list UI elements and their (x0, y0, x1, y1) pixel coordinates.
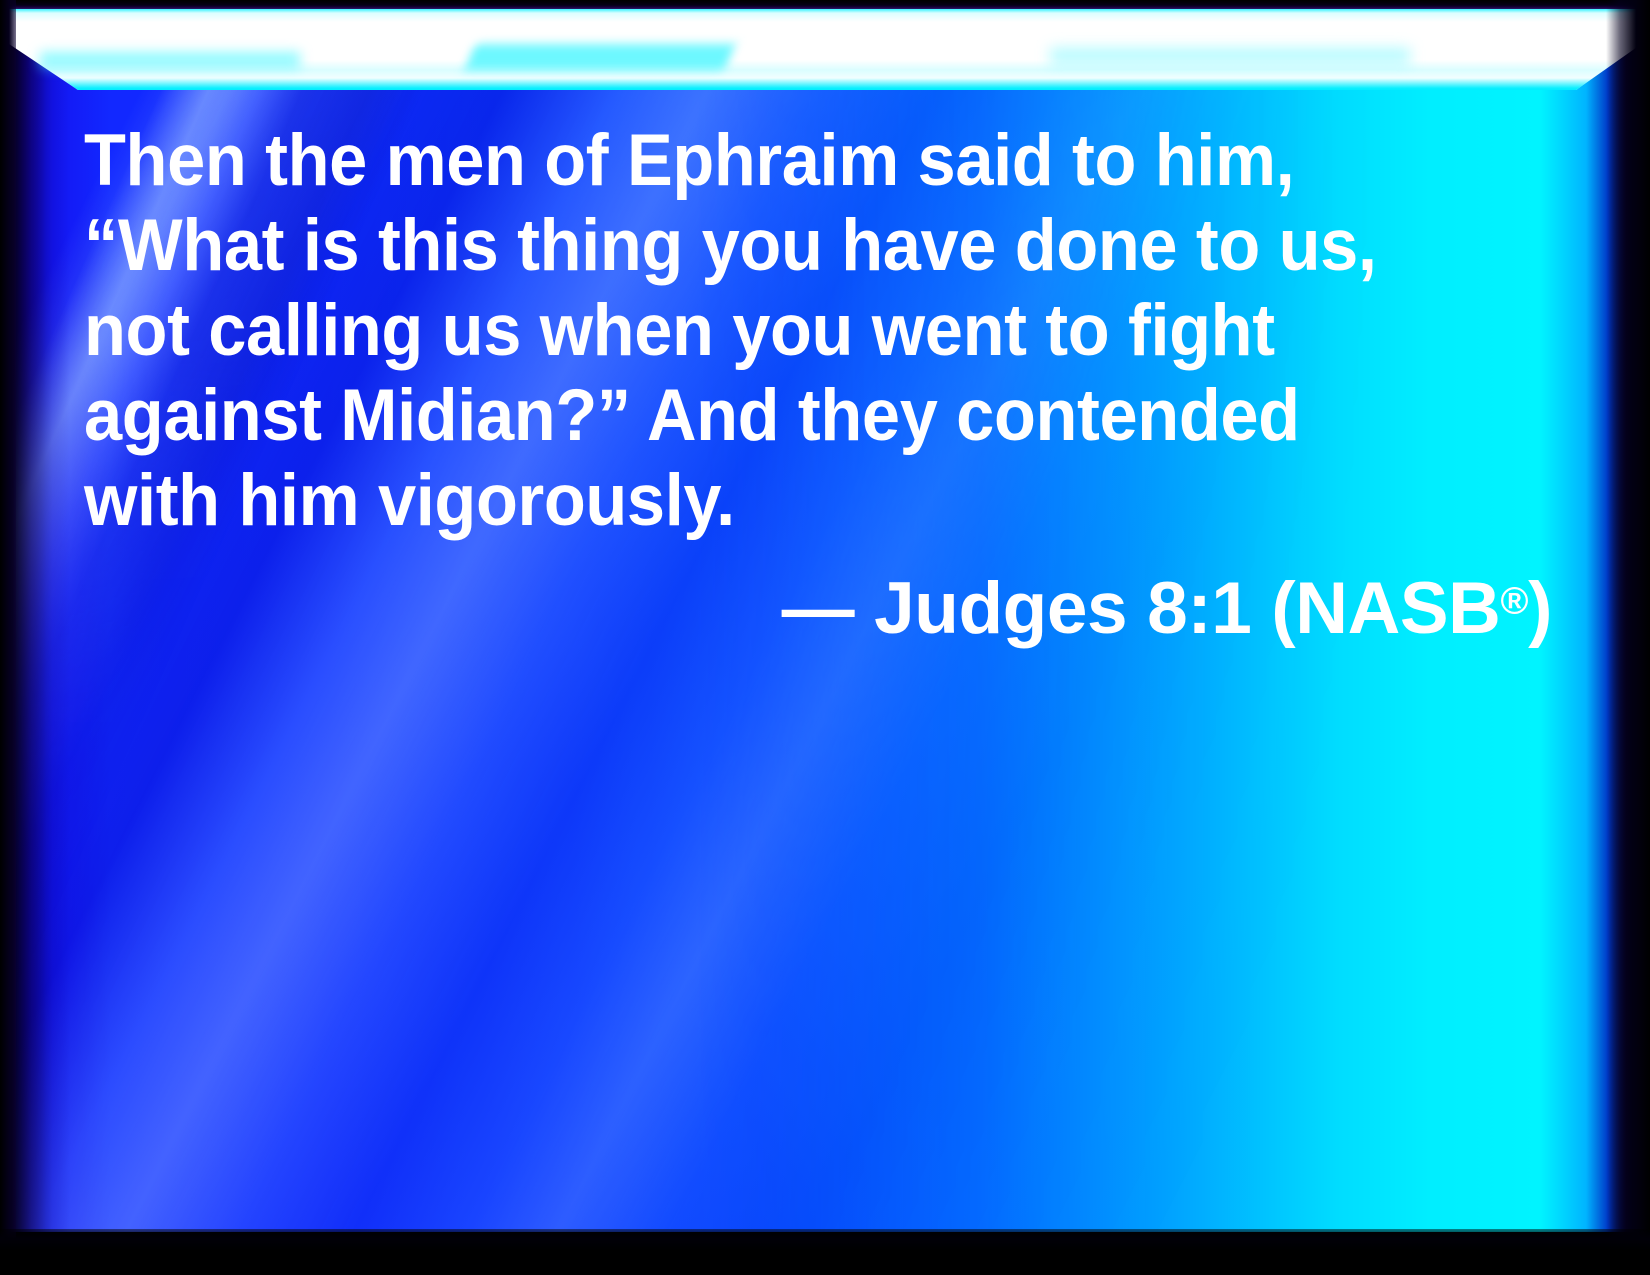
registered-trademark-icon: ® (1501, 580, 1529, 622)
attribution-translation-open: (NASB (1271, 568, 1500, 649)
verse-attribution: — Judges 8:1 (NASB®) (84, 567, 1564, 651)
verse-line-2: “What is this thing you have done to us, (84, 203, 1475, 288)
attribution-translation-close: ) (1528, 568, 1552, 649)
attribution-chapter-verse: 8:1 (1147, 568, 1251, 649)
scripture-slide: Then the men of Ephraim said to him, “Wh… (0, 0, 1650, 1275)
attribution-book: Judges (874, 568, 1127, 649)
frame-edge-right (1606, 0, 1650, 1275)
verse-text-block: Then the men of Ephraim said to him, “Wh… (84, 118, 1564, 651)
verse-line-4: against Midian?” And they contended (84, 373, 1475, 458)
frame-edge-bottom (0, 1229, 1650, 1275)
verse-line-1: Then the men of Ephraim said to him, (84, 118, 1475, 203)
frame-edge-left (0, 0, 16, 1275)
verse-line-5: with him vigorously. (84, 458, 1475, 543)
attribution-em-dash: — (782, 568, 855, 649)
verse-line-3: not calling us when you went to fight (84, 288, 1475, 373)
